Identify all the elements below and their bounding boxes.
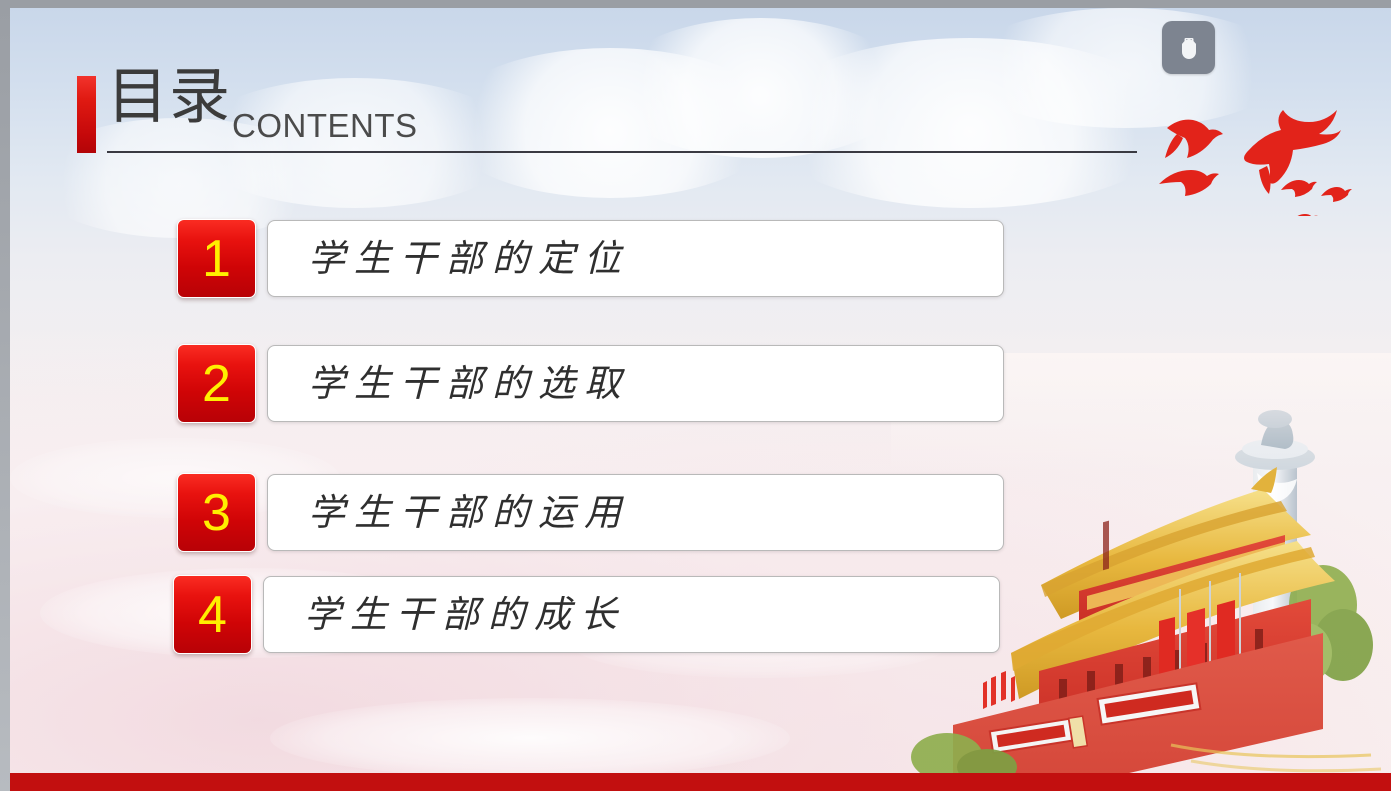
slide-window-frame: 目录 CONTENTS: [0, 0, 1391, 791]
item-number-badge[interactable]: 2: [177, 344, 256, 423]
item-title: 学生干部的成长: [264, 593, 626, 637]
item-number: 1: [202, 233, 231, 285]
contents-item-1[interactable]: 1 学生干部的定位: [177, 219, 1004, 299]
item-number-badge[interactable]: 3: [177, 473, 256, 552]
item-title-box[interactable]: 学生干部的成长: [263, 576, 1000, 653]
contents-item-3[interactable]: 3 学生干部的运用: [177, 473, 1004, 553]
item-number: 4: [198, 589, 227, 641]
contents-item-4[interactable]: 4 学生干部的成长: [173, 575, 1000, 655]
item-number: 2: [202, 358, 231, 410]
item-title-box[interactable]: 学生干部的定位: [267, 220, 1004, 297]
slide-canvas: 目录 CONTENTS: [10, 8, 1391, 791]
item-number-badge[interactable]: 1: [177, 219, 256, 298]
contents-list: 1 学生干部的定位 2 学生干部的选取 3 学生干部的运用: [10, 8, 1391, 791]
item-number: 3: [202, 487, 231, 539]
item-number-badge[interactable]: 4: [173, 575, 252, 654]
item-title: 学生干部的运用: [268, 491, 630, 535]
item-title: 学生干部的选取: [268, 362, 630, 406]
item-title-box[interactable]: 学生干部的运用: [267, 474, 1004, 551]
item-title: 学生干部的定位: [268, 237, 630, 281]
contents-item-2[interactable]: 2 学生干部的选取: [177, 344, 1004, 424]
footer-band: [10, 773, 1391, 791]
item-title-box[interactable]: 学生干部的选取: [267, 345, 1004, 422]
